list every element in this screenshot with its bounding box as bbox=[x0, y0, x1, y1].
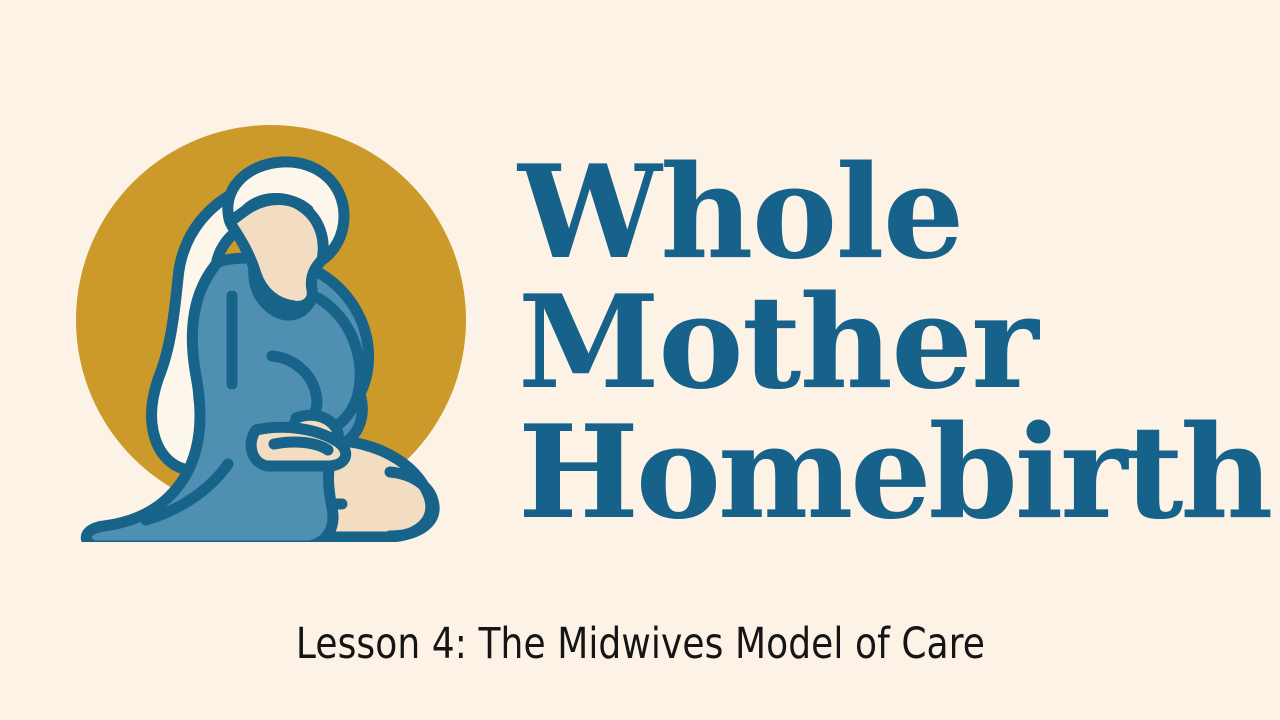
brand-logo-lockup: Whole Mother Homebirth bbox=[0, 0, 1280, 580]
title-slide: Whole Mother Homebirth Lesson 4: The Mid… bbox=[0, 0, 1280, 720]
wordmark-line-whole: Whole bbox=[518, 148, 1218, 278]
kneeling-pregnant-woman-icon bbox=[60, 112, 490, 542]
lesson-caption: Lesson 4: The Midwives Model of Care bbox=[0, 618, 1280, 670]
logo-mark-svg bbox=[60, 112, 490, 542]
wordmark-line-mother: Mother bbox=[518, 278, 1218, 408]
wordmark: Whole Mother Homebirth bbox=[518, 148, 1218, 538]
lesson-caption-text: Lesson 4: The Midwives Model of Care bbox=[295, 618, 984, 670]
wordmark-line-homebirth: Homebirth bbox=[518, 408, 1218, 538]
